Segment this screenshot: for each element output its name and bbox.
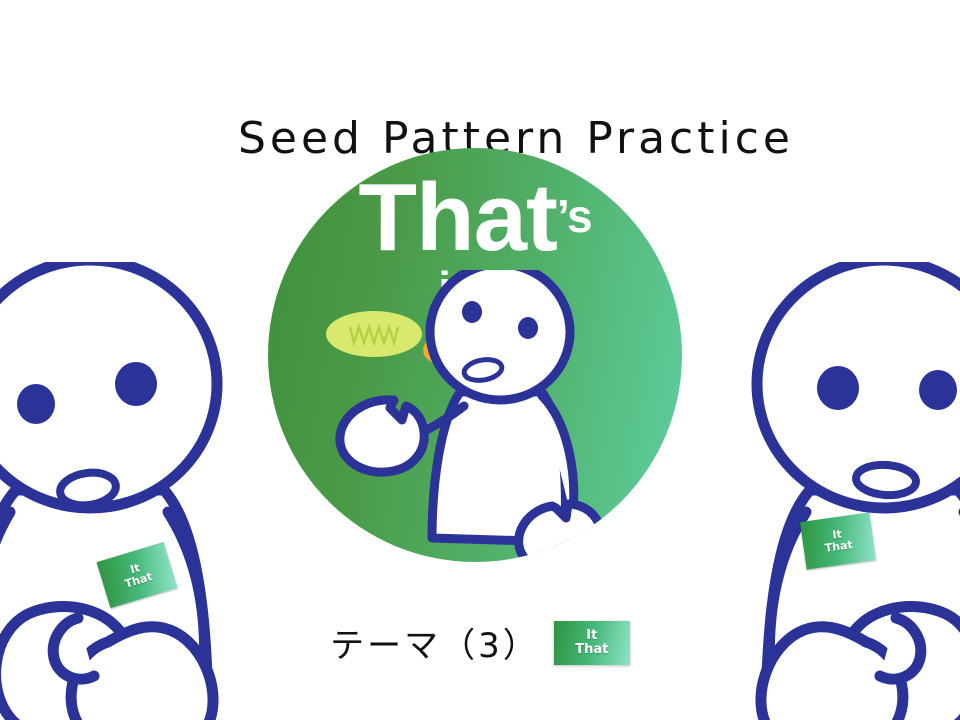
seed-card-left-line2: That xyxy=(124,571,154,590)
eye-left xyxy=(919,370,957,410)
seed-card-footer[interactable]: It That xyxy=(554,621,630,665)
theme-label: テーマ（3） xyxy=(330,618,540,667)
eye-right xyxy=(518,317,538,339)
eye-left xyxy=(462,301,482,323)
circle-headline-apostrophe-s: ’s xyxy=(557,190,592,242)
circle-headline: That’s xyxy=(268,170,682,266)
theme-circle: That’s it. xyxy=(268,148,682,562)
character-center xyxy=(328,270,658,562)
seed-card-right[interactable]: It That xyxy=(800,512,876,569)
theme-footer: テーマ（3） It That xyxy=(0,618,960,667)
eye-left xyxy=(17,384,55,424)
seed-card-right-line2: That xyxy=(824,539,853,554)
character-center-drawing xyxy=(328,270,658,562)
circle-headline-main: That xyxy=(358,164,557,271)
seed-card-footer-line2: That xyxy=(575,643,608,657)
seed-card-footer-line1: It xyxy=(586,629,597,643)
eye-right xyxy=(115,362,157,406)
mouth xyxy=(855,463,917,497)
slide-canvas: Seed Pattern Practice xyxy=(0,0,960,720)
eye-right xyxy=(817,366,859,410)
